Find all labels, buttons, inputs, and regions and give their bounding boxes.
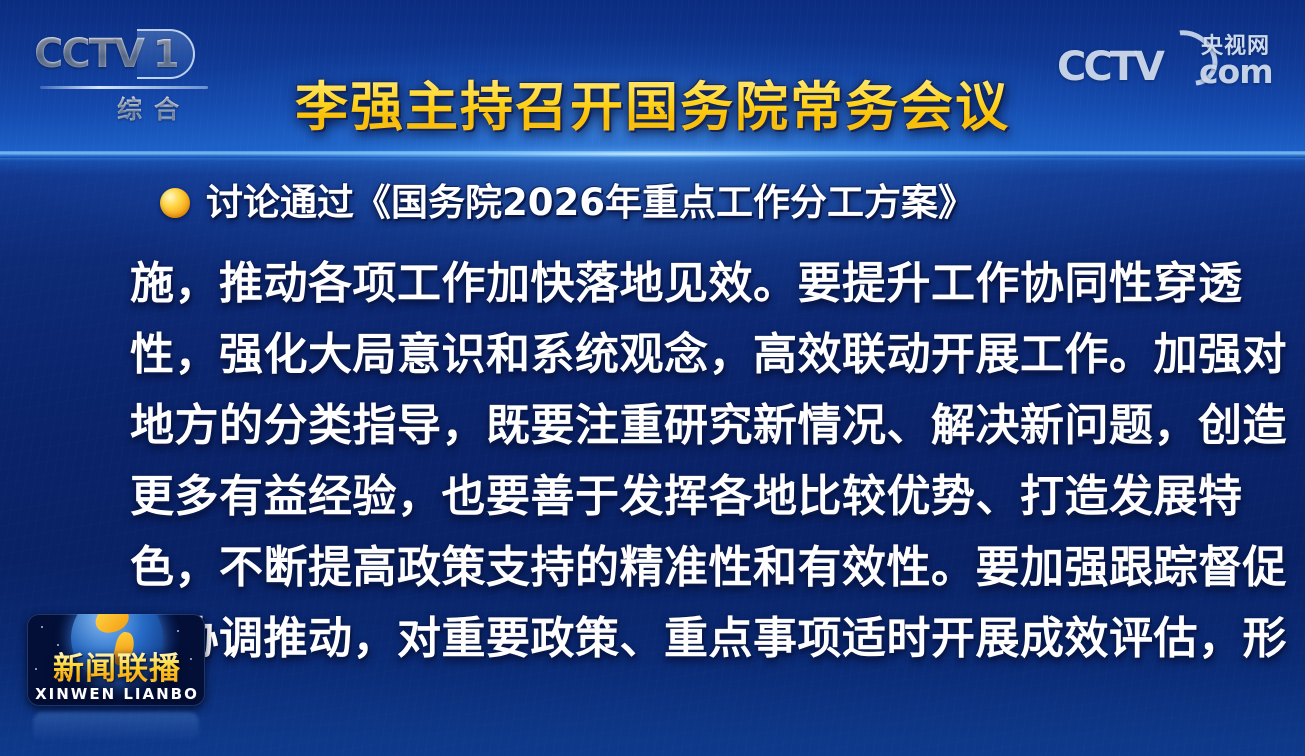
subtitle-text: 讨论通过《国务院2026年重点工作分工方案》 — [206, 182, 975, 224]
body-line: 施，推动各项工作加快落地见效。要提升工作协同性穿透 — [130, 248, 1178, 319]
star-speck — [177, 630, 179, 632]
logo-reflection — [33, 712, 199, 742]
body-line: 性，强化大局意识和系统观念，高效联动开展工作。加强对 — [130, 319, 1178, 390]
star-speck — [41, 626, 43, 628]
body-line: 地方的分类指导，既要注重研究新情况、解决新问题，创造 — [130, 390, 1178, 461]
body-line: 更多有益经验，也要善于发挥各地比较优势、打造发展特 — [130, 461, 1178, 532]
body-line: 色，不断提高政策支持的精准性和有效性。要加强跟踪督促 — [130, 532, 1178, 603]
body-text-block: 施，推动各项工作加快落地见效。要提升工作协同性穿透 性，强化大局意识和系统观念，… — [130, 248, 1178, 674]
program-title-chinese: 新闻联播 — [39, 652, 195, 686]
page-title: 李强主持召开国务院常务会议 — [0, 78, 1305, 138]
cctv1-wordmark: CCTV — [34, 31, 145, 77]
star-speck — [57, 644, 59, 646]
star-speck — [35, 668, 37, 670]
xinwen-lianbo-logo: 新闻联播 XINWEN LIANBO — [27, 614, 205, 706]
broadcast-frame: CCTV 1 综合 CCTV 央视网 com 李强主持召开国务院常务会议 讨论通… — [0, 0, 1305, 756]
cctv1-logo-row: CCTV 1 — [34, 28, 224, 80]
cctv1-channel-number: 1 — [153, 32, 179, 76]
subtitle-row: 讨论通过《国务院2026年重点工作分工方案》 — [160, 182, 975, 224]
banner-divider — [0, 151, 1305, 157]
cctv1-number-capsule: 1 — [137, 29, 197, 79]
bullet-dot-icon — [160, 188, 190, 218]
program-title-pinyin: XINWEN LIANBO — [33, 685, 201, 703]
banner-divider-shadow — [0, 158, 1305, 161]
body-line: 和协调推动，对重要政策、重点事项适时开展成效评估，形 — [130, 603, 1178, 674]
